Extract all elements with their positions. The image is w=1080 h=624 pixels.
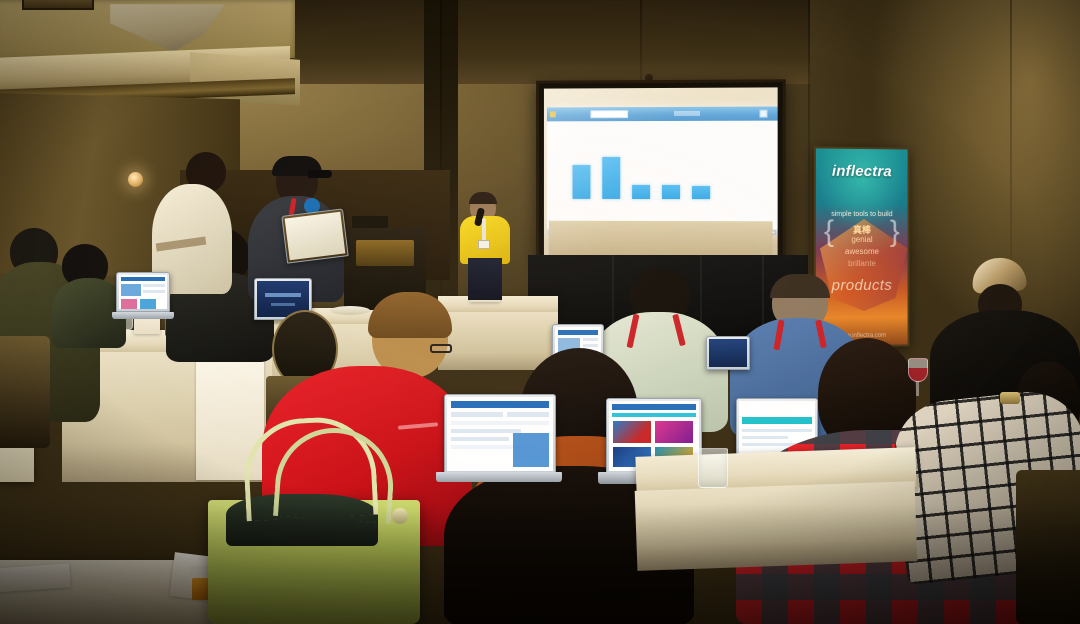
bar-chart bbox=[573, 153, 711, 199]
laptop-screen bbox=[119, 275, 167, 309]
banner-brace-right: } bbox=[890, 215, 900, 249]
banner-word-3: brillante bbox=[816, 259, 908, 268]
held-laptop-screen bbox=[285, 212, 346, 261]
chair-back-foreground[interactable] bbox=[1016, 470, 1080, 624]
speaker-badge bbox=[478, 240, 490, 249]
speaker-legs bbox=[468, 258, 502, 300]
banner-headline: products bbox=[816, 277, 908, 294]
browser-content-area bbox=[547, 121, 778, 236]
glasses-icon bbox=[430, 344, 452, 353]
bar-4 bbox=[662, 185, 680, 199]
laptop-red-user[interactable] bbox=[444, 394, 556, 474]
inflectra-banner: inflectra simple tools to build 真棒 genia… bbox=[814, 146, 910, 347]
bar-5 bbox=[692, 186, 710, 199]
laptop-back-right[interactable] bbox=[706, 336, 750, 370]
banner-brace-left: { bbox=[824, 215, 834, 249]
bar-2 bbox=[602, 157, 620, 199]
laptop-table-left-a[interactable] bbox=[116, 272, 170, 312]
av-device bbox=[352, 216, 388, 228]
laptop-screen bbox=[447, 397, 553, 471]
address-bar-input[interactable] bbox=[590, 110, 628, 118]
cap-brim-icon bbox=[308, 170, 332, 178]
laptop-screen bbox=[709, 339, 747, 367]
plate bbox=[330, 306, 370, 315]
wall-picture-frame bbox=[22, 0, 94, 10]
browser-logo-icon bbox=[550, 111, 556, 117]
banner-logo-text: inflectra bbox=[816, 163, 908, 181]
tablecloth-skirt bbox=[438, 312, 558, 370]
chair-back-foreground[interactable] bbox=[0, 336, 50, 448]
upper-wall-band bbox=[250, 0, 810, 84]
screen-surface bbox=[544, 87, 778, 264]
tablecloth-skirt bbox=[635, 481, 918, 571]
av-cart-panel bbox=[356, 240, 414, 266]
held-laptop[interactable] bbox=[281, 208, 348, 263]
handbag-clasp-icon bbox=[392, 508, 408, 524]
bar-1 bbox=[573, 165, 591, 199]
wine-glass-stem bbox=[916, 382, 919, 396]
wine-glass bbox=[908, 358, 928, 382]
wall-seam bbox=[1010, 0, 1012, 298]
laptop-keyboard[interactable] bbox=[112, 312, 174, 319]
laptop-keyboard[interactable] bbox=[436, 472, 562, 482]
speaker-lanyard bbox=[482, 218, 486, 242]
water-glass[interactable] bbox=[698, 448, 728, 488]
wristwatch-icon bbox=[1000, 392, 1020, 404]
toolbar-menu-label[interactable] bbox=[674, 111, 700, 116]
browser-toolbar[interactable] bbox=[547, 107, 778, 122]
screen-blank-lower bbox=[549, 221, 773, 260]
conference-room-photo: inflectra simple tools to build 真棒 genia… bbox=[0, 0, 1080, 624]
wall-seam bbox=[808, 0, 810, 298]
toolbar-action-button[interactable] bbox=[759, 110, 767, 118]
wall-sconce-light-icon bbox=[128, 172, 143, 187]
projected-browser-window bbox=[547, 107, 778, 236]
projection-screen bbox=[536, 79, 786, 272]
bar-3 bbox=[632, 185, 650, 199]
